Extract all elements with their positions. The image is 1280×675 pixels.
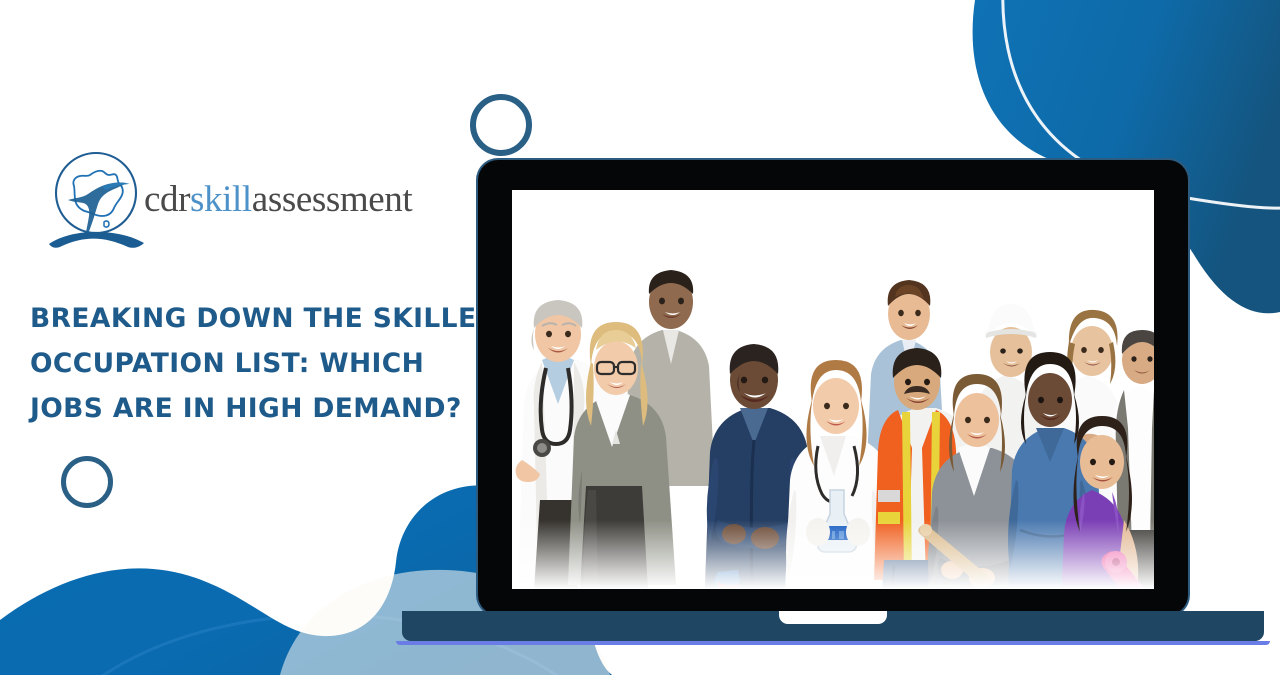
brand-wordmark: cdrskillassessment — [144, 181, 412, 218]
laptop-mockup — [478, 160, 1188, 630]
skilled-workers-illustration — [512, 190, 1154, 589]
circle-outline-icon-top — [470, 94, 532, 156]
australia-kangaroo-circle-logo-icon — [44, 146, 152, 252]
circle-outline-icon-bottom — [61, 456, 113, 508]
headline-line-3: JOBS ARE IN HIGH DEMAND? — [30, 386, 500, 431]
brand-name-part3: assessment — [252, 179, 412, 220]
brand-name-part2: skill — [190, 179, 252, 220]
brand-name-part1: cdr — [144, 179, 190, 220]
laptop-trackpad-notch — [779, 611, 887, 624]
laptop-base — [402, 611, 1264, 641]
group-photo — [512, 190, 1154, 589]
poster-canvas: cdrskillassessment BREAKING DOWN THE SKI… — [0, 0, 1280, 675]
brand-logo[interactable]: cdrskillassessment — [44, 146, 412, 252]
headline-line-1: BREAKING DOWN THE SKILLED — [30, 296, 500, 341]
page-title: BREAKING DOWN THE SKILLED OCCUPATION LIS… — [30, 296, 500, 431]
laptop-screen[interactable] — [512, 190, 1154, 589]
headline-line-2: OCCUPATION LIST: WHICH — [30, 341, 500, 386]
laptop-lid — [478, 160, 1188, 615]
